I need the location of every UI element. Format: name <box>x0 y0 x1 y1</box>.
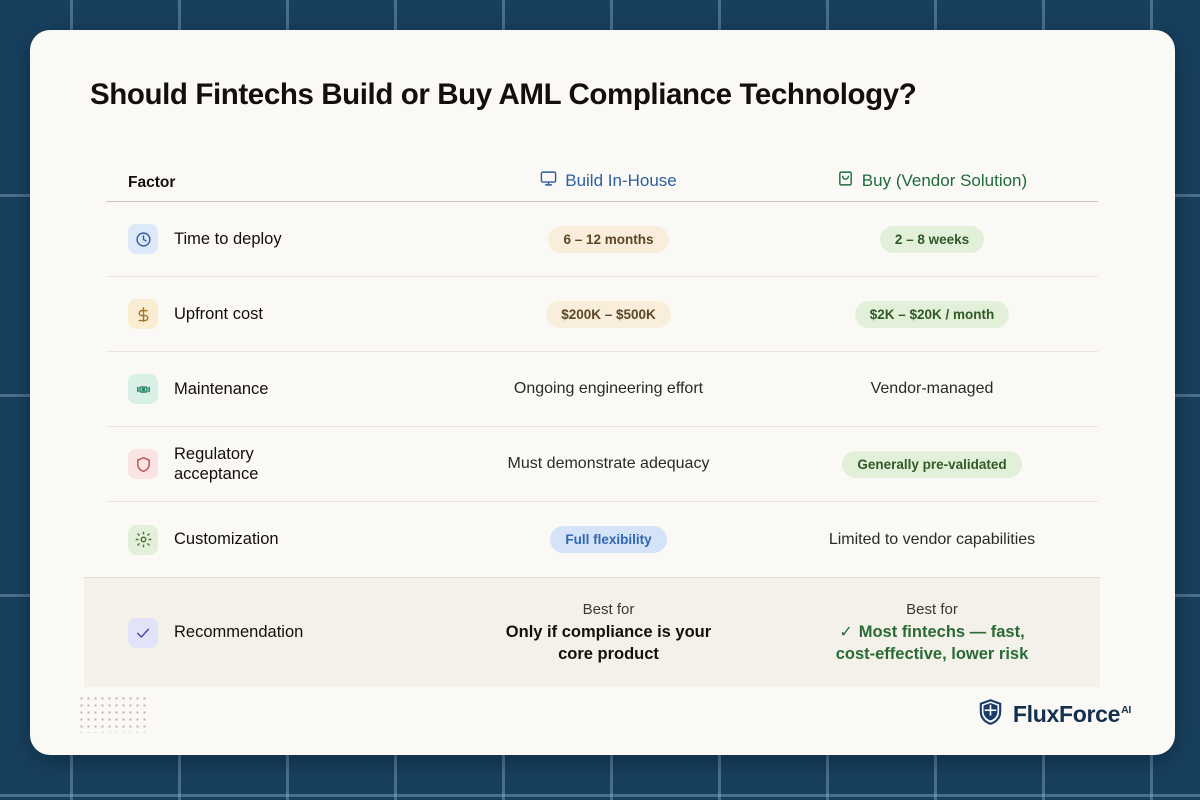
table-row: Regulatory acceptance Must demonstrate a… <box>106 427 1098 502</box>
recommendation-main: ✓Most fintechs — fast, cost-effective, l… <box>820 622 1045 665</box>
row-factor-cell: Recommendation <box>106 618 451 648</box>
recommendation-main: Only if compliance is your core product <box>501 622 716 665</box>
factor-label: Maintenance <box>174 379 268 399</box>
header-cell-factor: Factor <box>106 174 451 192</box>
monitor-icon <box>540 170 557 192</box>
row-buy-cell: $2K – $20K / month <box>766 301 1098 328</box>
row-build-cell: 6 – 12 months <box>451 226 766 253</box>
value-badge: 2 – 8 weeks <box>880 226 984 253</box>
value-text: Ongoing engineering effort <box>514 380 703 398</box>
clock-icon <box>128 224 158 254</box>
header-cell-build: Build In-House <box>451 170 766 192</box>
dot-grid-decoration <box>78 695 148 733</box>
row-factor-cell: Maintenance <box>106 374 451 404</box>
row-buy-cell: Generally pre-validated <box>766 451 1098 478</box>
recommendation-main-text: Most fintechs — fast, cost-effective, lo… <box>836 623 1029 663</box>
row-build-cell: Ongoing engineering effort <box>451 380 766 398</box>
shield-icon <box>128 449 158 479</box>
factor-label: Regulatory acceptance <box>174 444 334 484</box>
table-header-row: Factor Build In-House Buy (Vendor Soluti… <box>106 150 1098 202</box>
comparison-table: Factor Build In-House Buy (Vendor Soluti… <box>106 150 1098 687</box>
recommendation-row: Recommendation Best for Only if complian… <box>84 577 1100 687</box>
row-buy-cell: Vendor-managed <box>766 380 1098 398</box>
recommendation-lead: Best for <box>906 600 958 620</box>
row-build-cell: Must demonstrate adequacy <box>451 455 766 473</box>
sun-icon <box>128 525 158 555</box>
value-text: Limited to vendor capabilities <box>829 531 1035 549</box>
header-cell-buy: Buy (Vendor Solution) <box>766 170 1098 192</box>
logo-superscript: AI <box>1121 704 1131 716</box>
shield-logo-icon <box>977 698 1004 731</box>
row-factor-cell: Upfront cost <box>106 299 451 329</box>
recommendation-check-icon: ✓ <box>839 624 852 641</box>
row-buy-cell: Limited to vendor capabilities <box>766 531 1098 549</box>
brand-logo: FluxForceAI <box>977 698 1131 731</box>
logo-wordmark: FluxForceAI <box>1013 701 1131 728</box>
value-text: Vendor-managed <box>871 380 994 398</box>
settings-icon <box>128 374 158 404</box>
row-build-cell: $200K – $500K <box>451 301 766 328</box>
row-buy-cell: Best for ✓Most fintechs — fast, cost-eff… <box>766 600 1098 666</box>
value-badge: Full flexibility <box>550 526 666 553</box>
header-label-factor: Factor <box>106 174 175 192</box>
header-label-buy: Buy (Vendor Solution) <box>862 171 1027 191</box>
value-badge: 6 – 12 months <box>548 226 668 253</box>
table-row: Maintenance Ongoing engineering effort V… <box>106 352 1098 427</box>
row-factor-cell: Time to deploy <box>106 224 451 254</box>
logo-name: FluxForce <box>1013 701 1120 727</box>
row-factor-cell: Customization <box>106 525 451 555</box>
value-badge: $2K – $20K / month <box>855 301 1010 328</box>
table-row: Customization Full flexibility Limited t… <box>106 502 1098 577</box>
comparison-card: Should Fintechs Build or Buy AML Complia… <box>30 30 1175 755</box>
header-label-build: Build In-House <box>565 171 677 191</box>
recommendation-build: Best for Only if compliance is your core… <box>501 600 716 665</box>
factor-label: Customization <box>174 529 279 549</box>
factor-label: Upfront cost <box>174 304 263 324</box>
value-badge: Generally pre-validated <box>842 451 1021 478</box>
recommendation-buy: Best for ✓Most fintechs — fast, cost-eff… <box>820 600 1045 666</box>
value-text: Must demonstrate adequacy <box>508 455 710 473</box>
recommendation-lead: Best for <box>583 600 635 620</box>
dollar-icon <box>128 299 158 329</box>
table-row: Time to deploy 6 – 12 months 2 – 8 weeks <box>106 202 1098 277</box>
page-title: Should Fintechs Build or Buy AML Complia… <box>90 78 916 112</box>
row-build-cell: Full flexibility <box>451 526 766 553</box>
factor-label: Time to deploy <box>174 229 282 249</box>
table-row: Upfront cost $200K – $500K $2K – $20K / … <box>106 277 1098 352</box>
shopping-bag-icon <box>837 170 854 192</box>
row-build-cell: Best for Only if compliance is your core… <box>451 600 766 665</box>
check-icon <box>128 618 158 648</box>
factor-label: Recommendation <box>174 622 303 642</box>
row-factor-cell: Regulatory acceptance <box>106 444 451 484</box>
row-buy-cell: 2 – 8 weeks <box>766 226 1098 253</box>
value-badge: $200K – $500K <box>546 301 671 328</box>
